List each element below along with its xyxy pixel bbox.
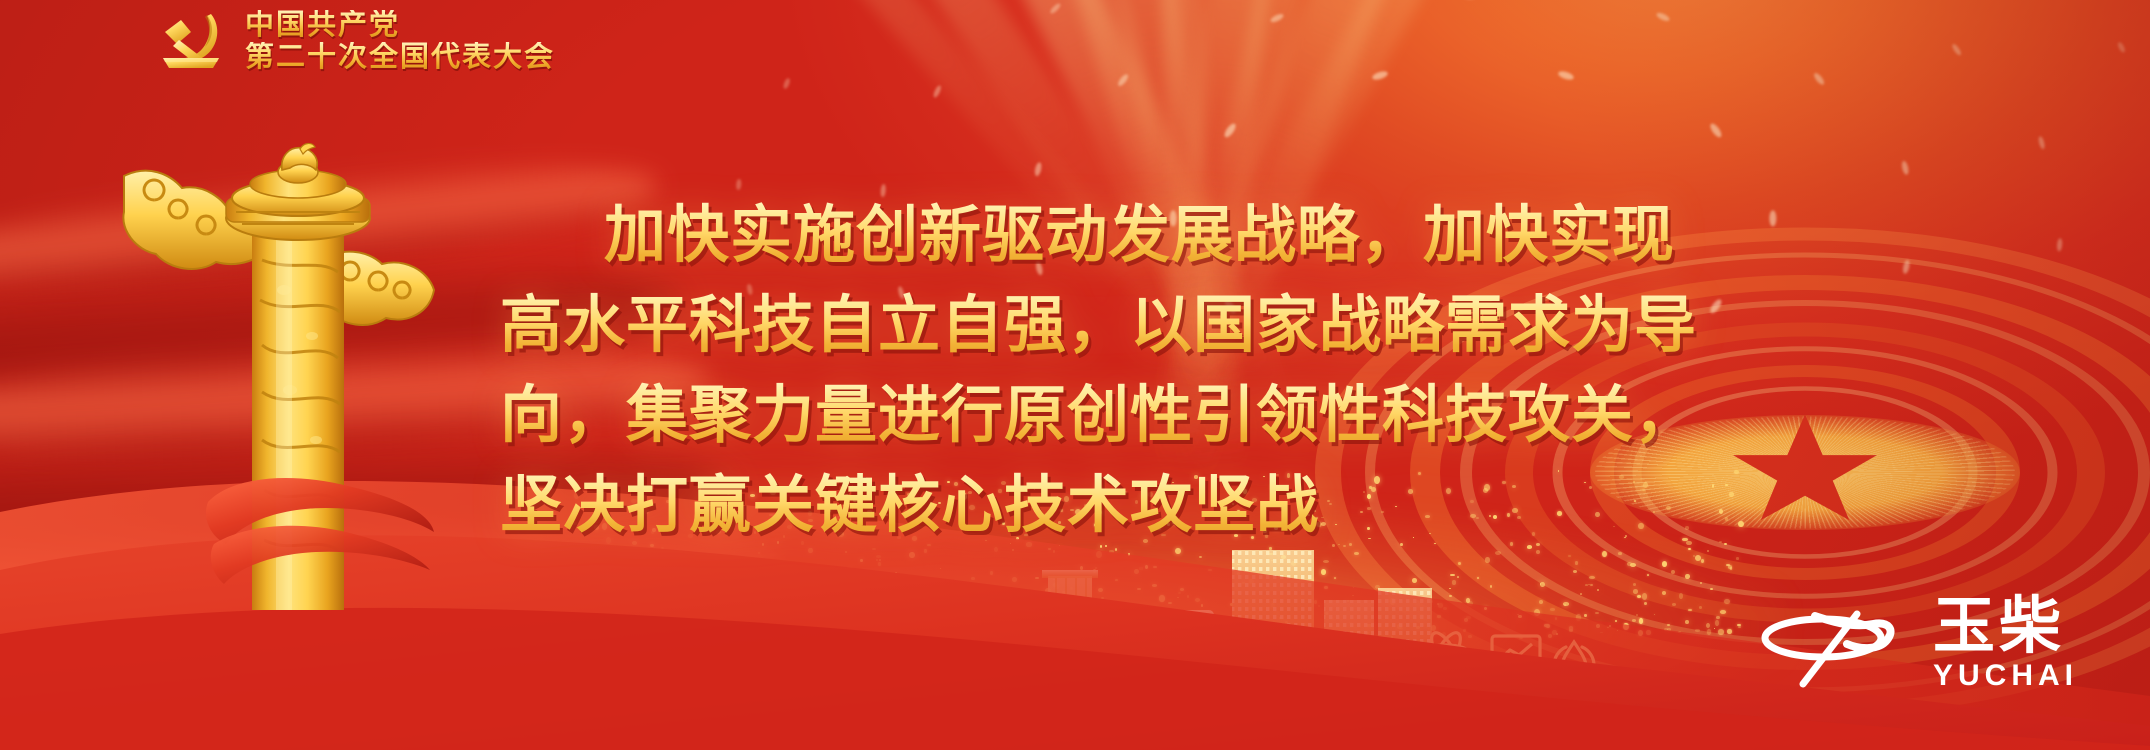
slogan-line-3: 向，集聚力量进行原创性引领性科技攻关， [500,370,1750,460]
yuchai-swoosh-icon [1761,598,1911,690]
party-logo-line2: 第二十次全国代表大会 [245,42,555,72]
beast-finial-icon [278,143,318,183]
slogan-block: 加快实施创新驱动发展战略，加快实现 高水平科技自立自强，以国家战略需求为导 向，… [500,190,1750,550]
hammer-and-sickle-icon [155,8,231,74]
yuchai-name-en: YUCHAI [1933,660,2078,692]
party-logo-line1: 中国共产党 [245,10,555,40]
huabiao-column-icon [112,140,442,610]
slogan-line-1: 加快实施创新驱动发展战略，加快实现 [500,190,1750,280]
yuchai-name-cn: 玉柴 [1933,595,2065,657]
party-congress-banner: 中国共产党 第二十次全国代表大会 加快实施创新驱动发展战略，加快实现 高水平科技… [0,0,2150,750]
slogan-line-4: 坚决打赢关键核心技术攻坚战 [500,460,1750,550]
party-congress-logo: 中国共产党 第二十次全国代表大会 [155,8,555,74]
yuchai-brand-logo: 玉柴 YUCHAI [1761,595,2078,692]
slogan-line-2: 高水平科技自立自强，以国家战略需求为导 [500,280,1750,370]
